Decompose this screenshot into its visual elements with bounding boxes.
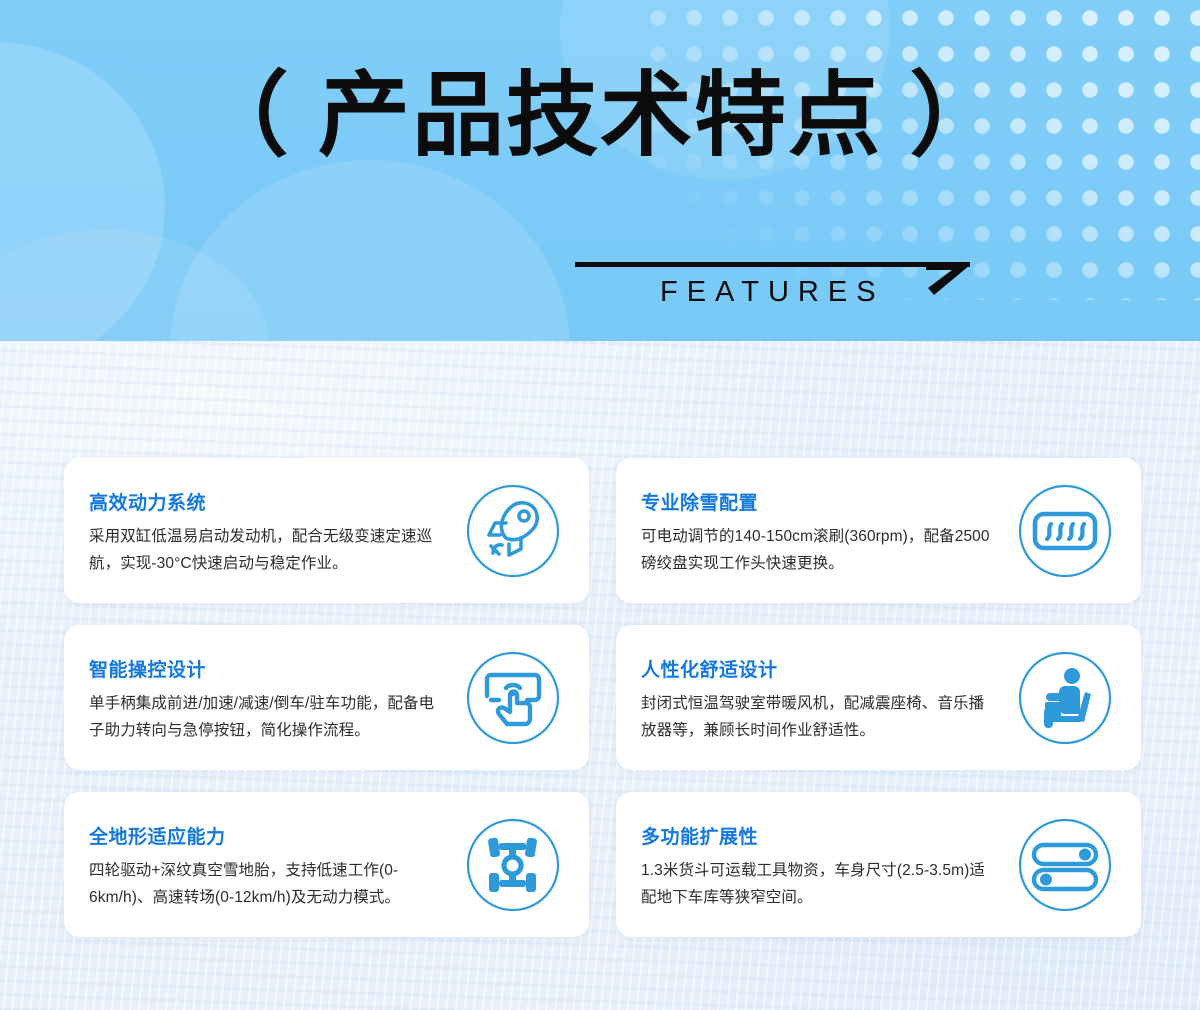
card-icon-wrapper (465, 817, 561, 913)
arrow-right-icon (922, 262, 974, 298)
feature-card-grid: 高效动力系统 采用双缸低温易启动发动机，配合无级变速定速巡航，实现-30°C快速… (64, 458, 1136, 937)
feature-card[interactable]: 高效动力系统 采用双缸低温易启动发动机，配合无级变速定速巡航，实现-30°C快速… (64, 458, 589, 603)
card-icon-wrapper (465, 483, 561, 579)
card-description: 单手柄集成前进/加速/减速/倒车/驻车功能，配备电子助力转向与急停按钮，简化操作… (89, 691, 441, 744)
feature-card[interactable]: 全地形适应能力 四轮驱动+深纹真空雪地胎，支持低速工作(0-6km/h)、高速转… (64, 792, 589, 937)
feature-card[interactable]: 多功能扩展性 1.3米货斗可运载工具物资，车身尺寸(2.5-3.5m)适配地下车… (616, 792, 1141, 937)
card-description: 四轮驱动+深纹真空雪地胎，支持低速工作(0-6km/h)、高速转场(0-12km… (89, 858, 441, 911)
sliders-icon (1017, 817, 1113, 913)
seated-person-icon (1017, 650, 1113, 746)
card-icon-wrapper (1017, 650, 1113, 746)
card-text: 专业除雪配置 可电动调节的140-150cm滚刷(360rpm)，配备2500磅… (641, 488, 993, 577)
features-label: FEATURES (660, 276, 885, 309)
four-wheel-chassis-icon (465, 817, 561, 913)
feature-page: （ 产品技术特点 ） FEATURES 高效动力系统 采用双缸低温易启动发动机，… (0, 0, 1200, 1010)
card-icon-wrapper (1017, 483, 1113, 579)
card-description: 封闭式恒温驾驶室带暖风机，配减震座椅、音乐播放器等，兼顾长时间作业舒适性。 (641, 691, 993, 744)
card-description: 1.3米货斗可运载工具物资，车身尺寸(2.5-3.5m)适配地下车库等狭窄空间。 (641, 858, 993, 911)
card-description: 可电动调节的140-150cm滚刷(360rpm)，配备2500磅绞盘实现工作头… (641, 524, 993, 577)
card-text: 高效动力系统 采用双缸低温易启动发动机，配合无级变速定速巡航，实现-30°C快速… (89, 488, 441, 577)
card-text: 智能操控设计 单手柄集成前进/加速/减速/倒车/驻车功能，配备电子助力转向与急停… (89, 655, 441, 744)
snow-brush-icon (1017, 483, 1113, 579)
page-title: （ 产品技术特点 ） (0, 64, 1200, 170)
card-title: 全地形适应能力 (89, 822, 441, 849)
card-title: 多功能扩展性 (641, 822, 993, 849)
touch-control-icon (465, 650, 561, 746)
card-text: 人性化舒适设计 封闭式恒温驾驶室带暖风机，配减震座椅、音乐播放器等，兼顾长时间作… (641, 655, 993, 744)
card-icon-wrapper (1017, 817, 1113, 913)
card-icon-wrapper (465, 650, 561, 746)
card-title: 智能操控设计 (89, 655, 441, 682)
rocket-icon (465, 483, 561, 579)
card-title: 人性化舒适设计 (641, 655, 993, 682)
feature-card[interactable]: 专业除雪配置 可电动调节的140-150cm滚刷(360rpm)，配备2500磅… (616, 458, 1141, 603)
card-description: 采用双缸低温易启动发动机，配合无级变速定速巡航，实现-30°C快速启动与稳定作业… (89, 524, 441, 577)
card-text: 多功能扩展性 1.3米货斗可运载工具物资，车身尺寸(2.5-3.5m)适配地下车… (641, 822, 993, 911)
divider-line (575, 262, 970, 267)
card-text: 全地形适应能力 四轮驱动+深纹真空雪地胎，支持低速工作(0-6km/h)、高速转… (89, 822, 441, 911)
card-title: 高效动力系统 (89, 488, 441, 515)
feature-card[interactable]: 人性化舒适设计 封闭式恒温驾驶室带暖风机，配减震座椅、音乐播放器等，兼顾长时间作… (616, 625, 1141, 770)
features-subtitle-block: FEATURES (575, 258, 985, 328)
page-header: （ 产品技术特点 ） FEATURES (0, 0, 1200, 341)
feature-card[interactable]: 智能操控设计 单手柄集成前进/加速/减速/倒车/驻车功能，配备电子助力转向与急停… (64, 625, 589, 770)
card-title: 专业除雪配置 (641, 488, 993, 515)
